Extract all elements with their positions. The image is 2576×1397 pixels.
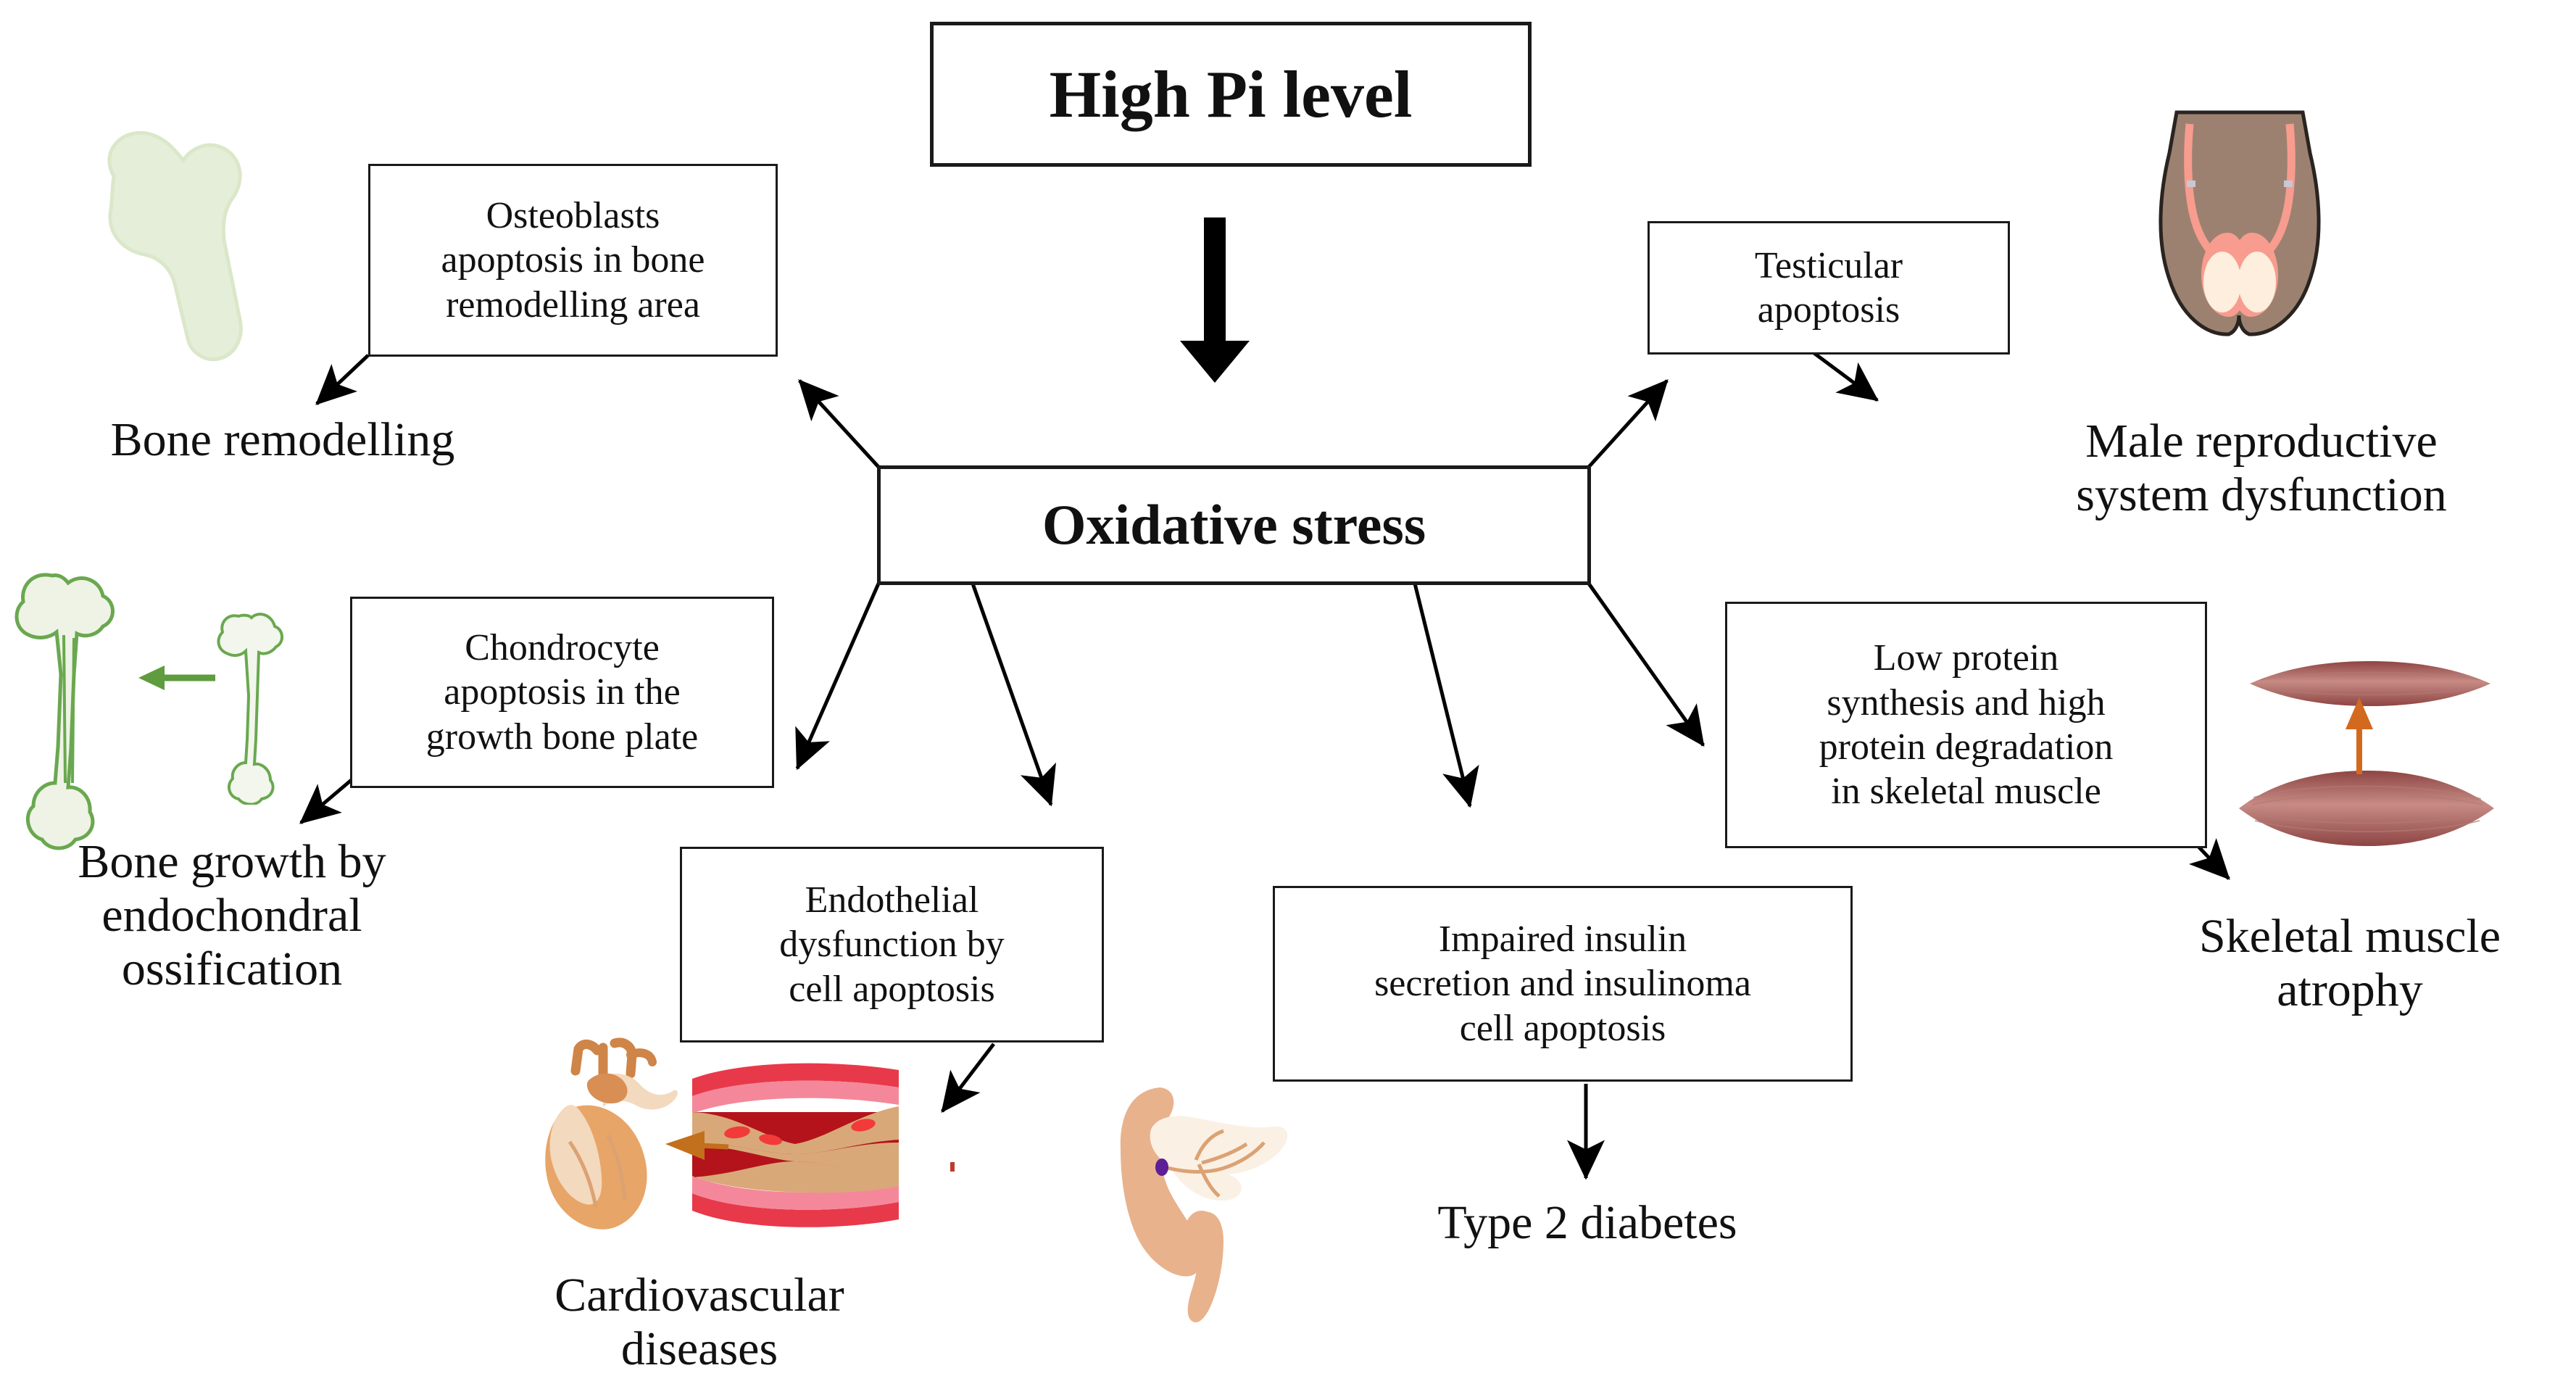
arrow-muscle-growth [2346,697,2373,774]
type-2-diabetes-label: Type 2 diabetes [1326,1196,1848,1250]
cardiovascular-diseases-label: Cardiovascular diseases [475,1269,924,1376]
osteoblasts-apoptosis-box[interactable]: Osteoblasts apoptosis in bone remodellin… [368,164,778,357]
arrow-osteoblasts-to-bone-remodelling [317,355,368,404]
oxidative-stress-label: Oxidative stress [1042,492,1426,558]
bone-growth-label: Bone growth by endochondral ossification [0,835,464,996]
impaired-insulin-box[interactable]: Impaired insulin secretion and insulinom… [1273,886,1853,1082]
high-pi-level-label: High Pi level [1050,55,1413,134]
arrow-center-to-testicular [1589,381,1667,467]
heart-icon [522,1033,696,1258]
endothelial-dysfunction-box[interactable]: Endothelial dysfunction by cell apoptosi… [680,847,1104,1042]
arrow-testicular-to-male-repro [1812,352,1877,400]
scrotum-testes-icon [2142,105,2338,352]
testicular-apoptosis-label: Testicular apoptosis [1755,244,1903,333]
arrow-center-to-endothelial [973,584,1051,805]
diagram-canvas: High Pi level Oxidative stress Osteoblas… [0,0,2576,1397]
impaired-insulin-label: Impaired insulin secretion and insulinom… [1374,917,1751,1050]
pancreas-icon [1109,1073,1348,1341]
arrow-title-to-center [1180,217,1250,383]
arrow-center-to-protein [1589,584,1703,745]
arrow-center-to-insulin [1415,584,1470,806]
chondrocyte-apoptosis-box[interactable]: Chondrocyte apoptosis in the growth bone… [350,597,774,788]
high-pi-level-box[interactable]: High Pi level [930,22,1532,167]
low-protein-synthesis-box[interactable]: Low protein synthesis and high protein d… [1725,602,2207,848]
oxidative-stress-box[interactable]: Oxidative stress [877,465,1591,585]
muscle-atrophied-icon [2247,660,2493,708]
skeletal-muscle-atrophy-label: Skeletal muscle atrophy [2124,910,2576,1017]
arrow-endothelial-to-cardiovascular [942,1044,994,1111]
bone-remodelling-label: Bone remodelling [29,413,536,467]
arrow-center-to-osteoblasts [799,381,878,467]
endothelial-dysfunction-label: Endothelial dysfunction by cell apoptosi… [779,878,1005,1011]
osteoblasts-apoptosis-label: Osteoblasts apoptosis in bone remodellin… [441,194,705,327]
artery-plaque-icon [692,1058,899,1232]
low-protein-synthesis-label: Low protein synthesis and high protein d… [1819,636,2114,813]
chondrocyte-apoptosis-label: Chondrocyte apoptosis in the growth bone… [426,626,698,759]
arrow-center-to-chondrocyte [797,584,878,768]
male-reproductive-dysfunction-label: Male reproductive system dysfunction [1950,415,2573,522]
testicular-apoptosis-box[interactable]: Testicular apoptosis [1648,221,2010,355]
long-bone-large-icon [7,565,152,855]
long-bone-small-icon [214,609,290,805]
muscle-healthy-icon [2236,768,2497,848]
bone-growth-arrow-icon [134,656,217,700]
femur-bone-icon [69,112,308,366]
artifact-dot [950,1162,955,1172]
